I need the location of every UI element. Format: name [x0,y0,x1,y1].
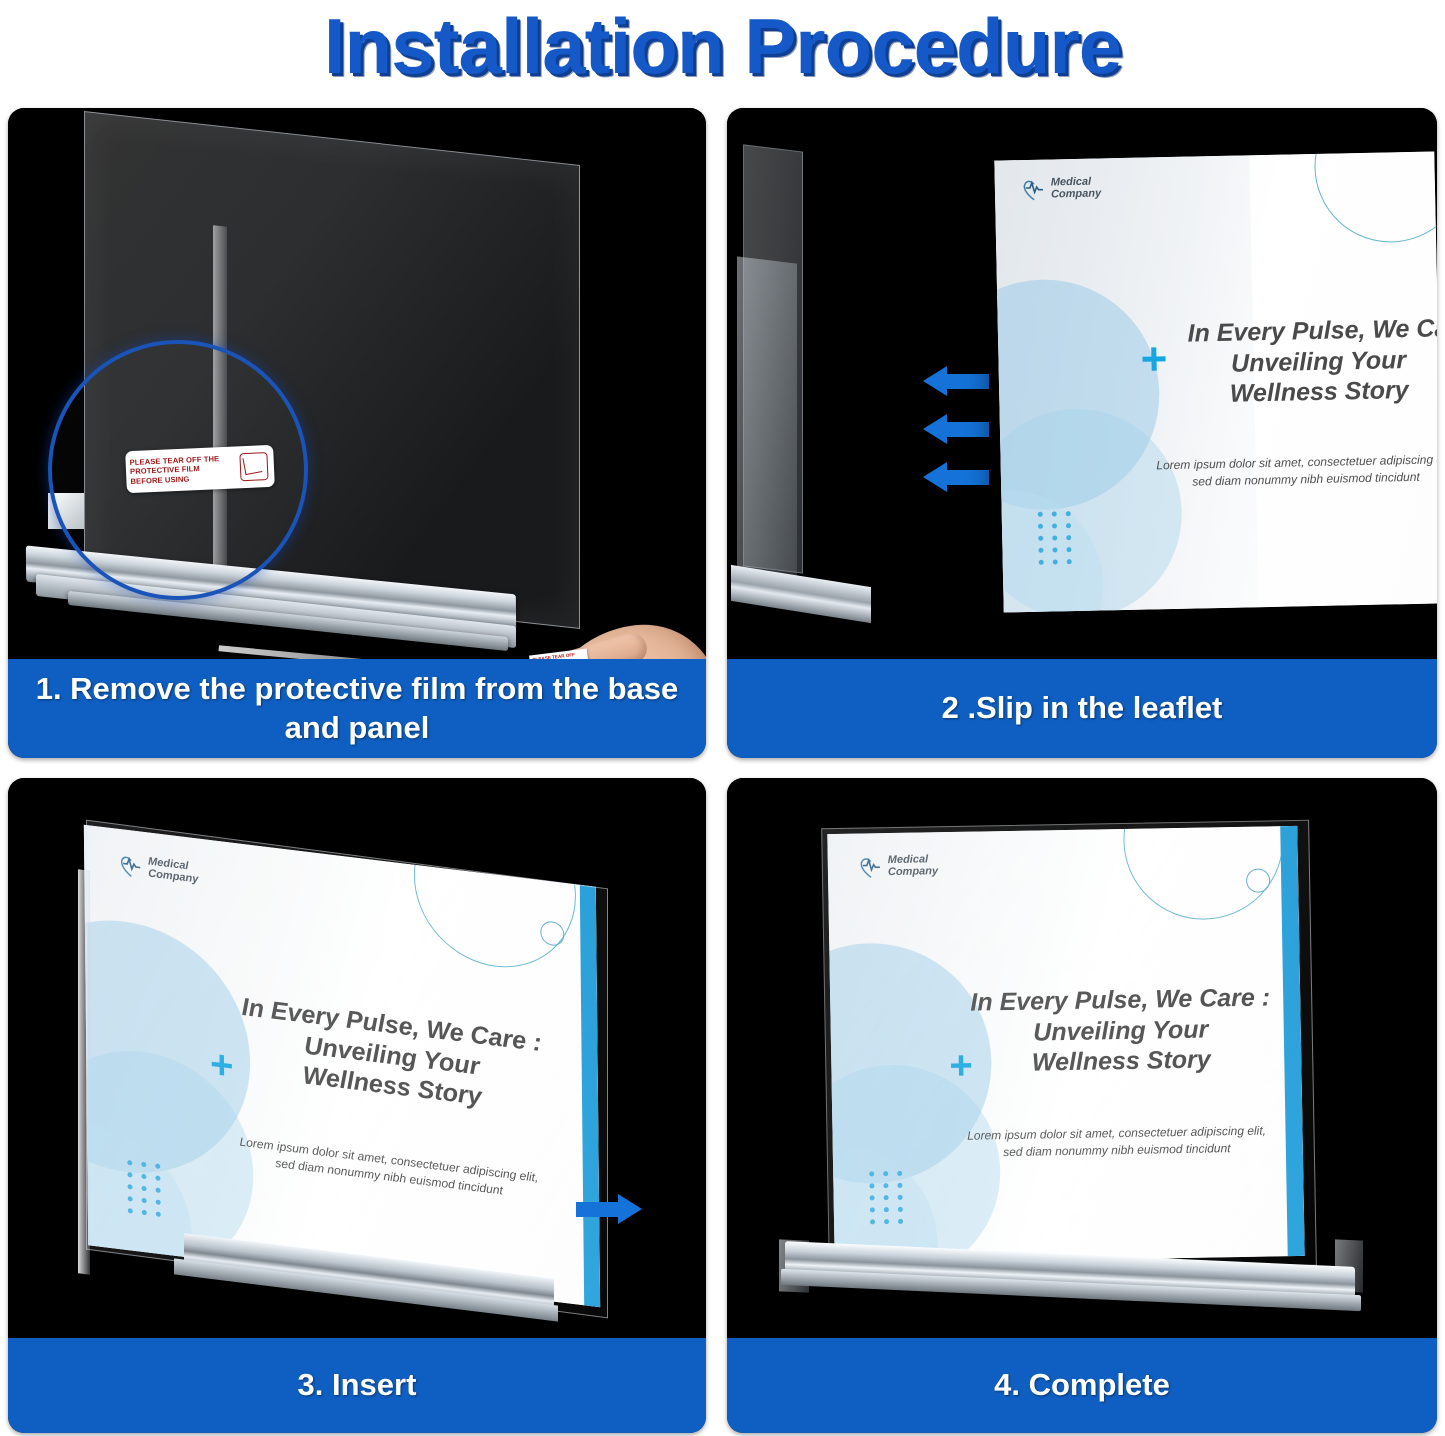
headline-line-1: In Every Pulse, We Ca [1158,313,1437,350]
arrow-left-icon-3 [923,462,989,492]
arrow-right-icon [576,1194,642,1224]
leaflet-edge-stripe [580,885,600,1307]
protective-film-sticker: PLEASE TEAR OFF THE PROTECTIVE FILM BEFO… [125,445,275,493]
pull-tab-sticker: PLEASE TEAR OFF THE [529,649,589,659]
step-1-photo: PLEASE TEAR OFF THE PROTECTIVE FILM BEFO… [8,108,706,659]
heartbeat-pulse-icon [858,853,884,879]
arrow-left-icon-2 [923,414,989,444]
decor-dot-grid [127,1160,161,1217]
leaflet-body: Lorem ipsum dolor sit amet, consectetuer… [944,1122,1289,1162]
step-2-photo: Medical Company + In Every Pulse, We Ca … [727,108,1437,659]
step-2-caption: 2 .Slip in the leaflet [727,659,1437,758]
logo-line-1: Medical [888,853,938,866]
headline-line-3: Wellness Story [957,1043,1285,1079]
step-card-4: Medical Company + In Every Pulse, We Car… [727,778,1437,1433]
leaflet-body: Lorem ipsum dolor sit amet, consectetuer… [1141,451,1437,492]
acrylic-stand-base [731,565,871,623]
leaflet-panel-4: Medical Company + In Every Pulse, We Car… [827,826,1304,1264]
leaflet-panel-3: Medical Company + In Every Pulse, We Car… [84,825,600,1308]
step-3-caption: 3. Insert [8,1338,706,1433]
acrylic-left-edge [78,869,90,1275]
heartbeat-pulse-icon [118,851,144,880]
step-card-1: PLEASE TEAR OFF THE PROTECTIVE FILM BEFO… [8,108,706,758]
peel-film-icon [239,452,268,481]
step-4-photo: Medical Company + In Every Pulse, We Car… [727,778,1437,1338]
step-3-photo: Medical Company + In Every Pulse, We Car… [8,778,706,1338]
decor-dot-grid [1038,511,1072,565]
headline-line-3: Wellness Story [1159,374,1437,411]
step-card-2: Medical Company + In Every Pulse, We Ca … [727,108,1437,758]
arrow-left-icon-1 [923,366,989,396]
page-title: Installation Procedure [0,0,1445,96]
leaflet-logo: Medical Company [858,852,939,879]
step-1-caption: 1. Remove the protective film from the b… [8,659,706,758]
leaflet-headline: In Every Pulse, We Ca Unveiling Your Wel… [1158,313,1437,411]
decor-dot-grid [869,1171,903,1225]
insert-direction-arrow [576,1194,642,1242]
leaflet-panel-2: Medical Company + In Every Pulse, We Ca … [994,151,1437,612]
insert-direction-arrows [923,366,989,510]
logo-line-2: Company [1051,187,1101,200]
leaflet-logo: Medical Company [1021,174,1102,202]
leaflet-headline: In Every Pulse, We Care : Unveiling Your… [956,982,1286,1079]
step-card-3: Medical Company + In Every Pulse, We Car… [8,778,706,1433]
headline-line-1: In Every Pulse, We Care : [956,982,1284,1018]
step-4-caption: 4. Complete [727,1338,1437,1433]
logo-line-2: Company [888,865,938,878]
acrylic-stand-front [737,256,797,583]
heartbeat-pulse-icon [1021,176,1048,203]
steps-grid: PLEASE TEAR OFF THE PROTECTIVE FILM BEFO… [0,105,1445,1436]
logo-line-1: Medical [1051,175,1101,188]
